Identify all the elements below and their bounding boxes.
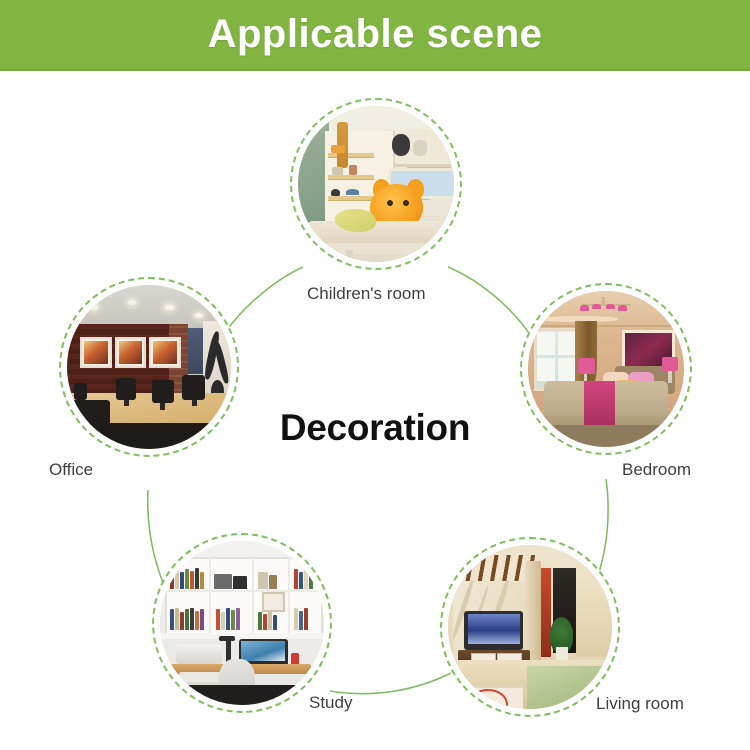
header-banner: Applicable scene bbox=[0, 0, 750, 71]
study-photo[interactable] bbox=[152, 533, 332, 713]
applicable-scene-infographic: Applicable scene Decoration bbox=[0, 0, 750, 750]
study-label: Study bbox=[309, 693, 352, 713]
living-room-photo[interactable] bbox=[440, 537, 620, 717]
children-room-label: Children's room bbox=[307, 284, 426, 304]
bedroom-photo[interactable] bbox=[520, 283, 692, 455]
children-room-photo[interactable] bbox=[290, 98, 462, 270]
bedroom-label: Bedroom bbox=[622, 460, 691, 480]
living-room-label: Living room bbox=[596, 694, 684, 714]
office-label: Office bbox=[49, 460, 93, 480]
page-title: Applicable scene bbox=[0, 0, 750, 71]
office-photo[interactable] bbox=[59, 277, 239, 457]
scene-diagram: Decoration bbox=[0, 71, 750, 750]
center-label: Decoration bbox=[230, 407, 520, 449]
